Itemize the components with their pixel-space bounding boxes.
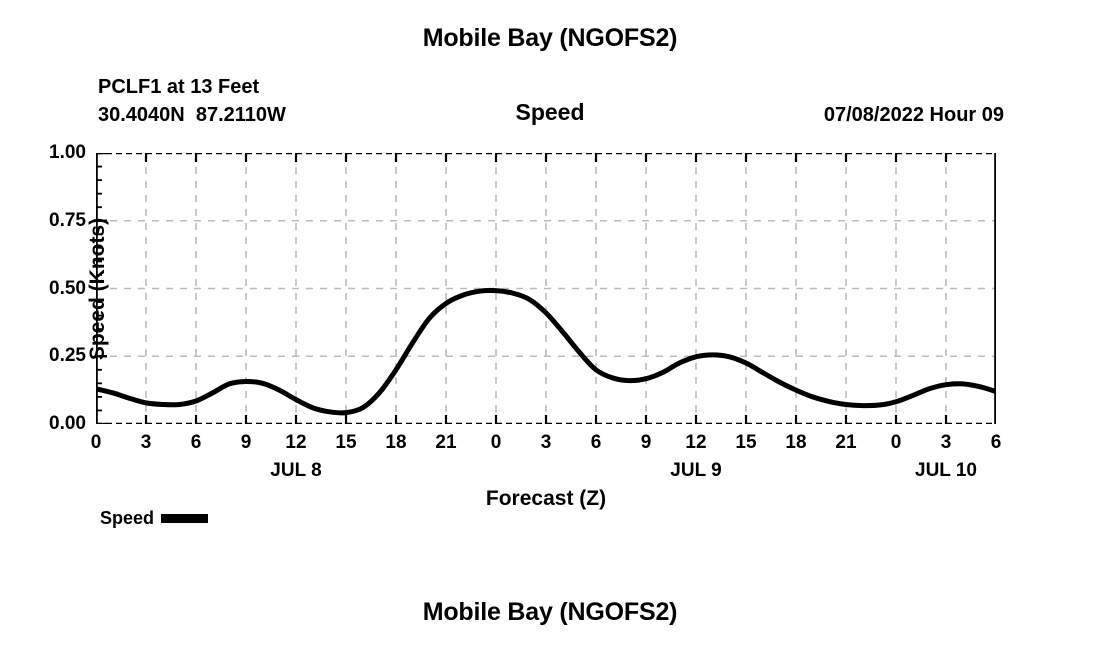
x-axis-tick-label: 21 bbox=[435, 432, 456, 454]
page-title-bottom: Mobile Bay (NGOFS2) bbox=[0, 598, 1100, 627]
x-axis-tick-label: 12 bbox=[285, 432, 306, 454]
y-axis-tick-label: 0.50 bbox=[49, 278, 86, 300]
x-axis-tick-label: 15 bbox=[335, 432, 356, 454]
legend: Speed bbox=[100, 508, 208, 529]
x-axis-tick-label: 15 bbox=[735, 432, 756, 454]
x-axis-day-label: JUL 9 bbox=[670, 460, 721, 482]
x-axis-tick-label: 9 bbox=[641, 432, 652, 454]
x-axis-tick-label: 12 bbox=[685, 432, 706, 454]
x-axis-tick-label: 3 bbox=[941, 432, 952, 454]
y-axis-tick-label: 0.25 bbox=[49, 345, 86, 367]
x-axis-tick-label: 3 bbox=[141, 432, 152, 454]
x-axis-tick-label: 18 bbox=[785, 432, 806, 454]
legend-swatch-speed bbox=[161, 514, 208, 523]
x-axis-tick-label: 6 bbox=[991, 432, 1002, 454]
x-axis-tick-label: 6 bbox=[191, 432, 202, 454]
x-axis-tick-label: 0 bbox=[91, 432, 102, 454]
x-axis-tick-label: 0 bbox=[891, 432, 902, 454]
y-axis-tick-label: 1.00 bbox=[49, 142, 86, 164]
page-title-top: Mobile Bay (NGOFS2) bbox=[0, 24, 1100, 53]
x-axis-day-label: JUL 8 bbox=[270, 460, 321, 482]
x-axis-tick-label: 9 bbox=[241, 432, 252, 454]
model-run-label: 07/08/2022 Hour 09 bbox=[824, 104, 1004, 127]
legend-label-speed: Speed bbox=[100, 508, 154, 529]
x-axis-tick-label: 18 bbox=[385, 432, 406, 454]
x-axis-day-label: JUL 10 bbox=[915, 460, 977, 482]
plot-area: Speed (Knots) Forecast (Z) 0.000.250.500… bbox=[96, 153, 996, 424]
station-label: PCLF1 at 13 Feet bbox=[98, 76, 259, 99]
y-axis-tick-label: 0.00 bbox=[49, 413, 86, 435]
x-axis-tick-label: 21 bbox=[835, 432, 856, 454]
y-axis-title: Speed (Knots) bbox=[86, 159, 110, 419]
y-axis-tick-label: 0.75 bbox=[49, 210, 86, 232]
x-axis-tick-label: 3 bbox=[541, 432, 552, 454]
x-axis-title: Forecast (Z) bbox=[96, 487, 996, 511]
x-axis-tick-label: 6 bbox=[591, 432, 602, 454]
chart-page: Mobile Bay (NGOFS2) PCLF1 at 13 Feet 30.… bbox=[0, 0, 1100, 650]
x-axis-tick-label: 0 bbox=[491, 432, 502, 454]
speed-line-chart bbox=[96, 153, 996, 424]
